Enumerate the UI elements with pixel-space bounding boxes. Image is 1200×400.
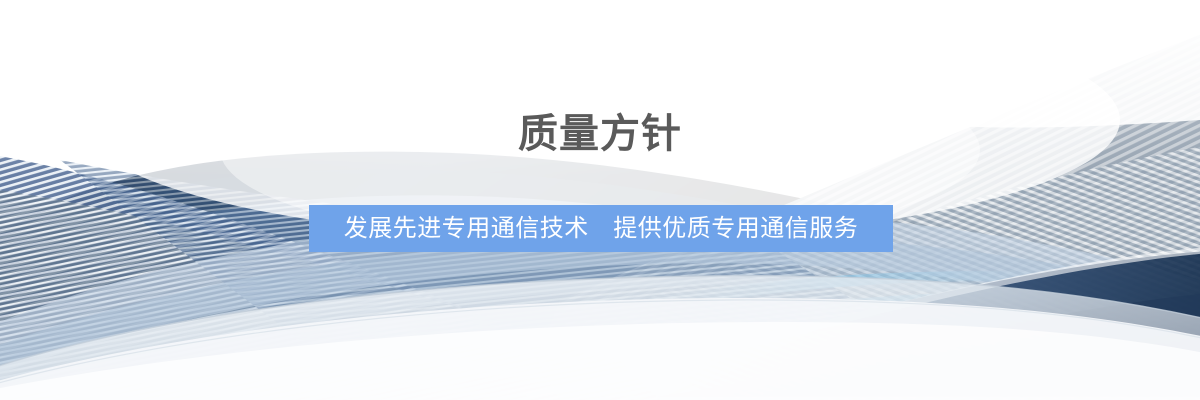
quality-policy-banner: 质量方针 发展先进专用通信技术 提供优质专用通信服务 — [0, 0, 1200, 400]
slogan-text: 发展先进专用通信技术 提供优质专用通信服务 — [344, 214, 859, 244]
page-title: 质量方针 — [0, 108, 1200, 160]
slogan-bar: 发展先进专用通信技术 提供优质专用通信服务 — [309, 205, 893, 252]
banner-content: 质量方针 发展先进专用通信技术 提供优质专用通信服务 — [0, 0, 1200, 400]
